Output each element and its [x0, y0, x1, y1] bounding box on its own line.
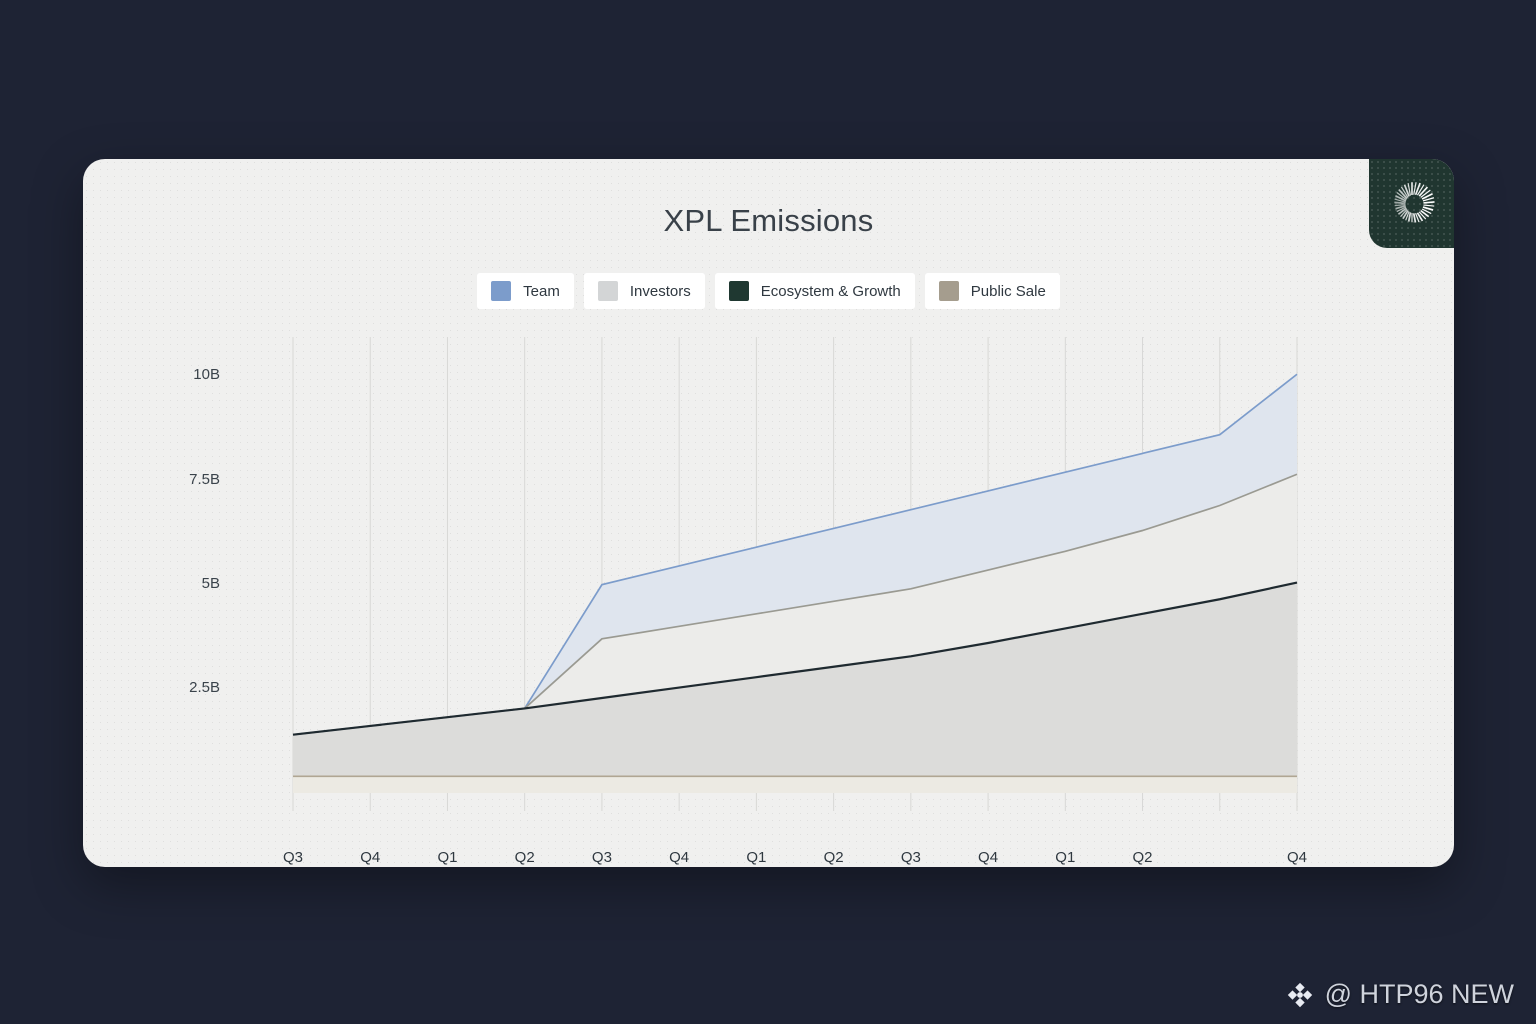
x-tick-label: Q3 — [263, 849, 323, 866]
x-tick-label: Q1 — [726, 849, 786, 866]
screenshot-root: XPL Emissions Team Investors Ecosystem &… — [0, 0, 1536, 1024]
watermark-text: @ HTP96 NEW — [1325, 979, 1514, 1010]
x-tick-label: Q3 — [572, 849, 632, 866]
y-tick-label: 5B — [130, 575, 220, 592]
chart-areas — [293, 374, 1297, 793]
x-tick-label: Q2 — [804, 849, 864, 866]
x-tick-label: Q3 — [881, 849, 941, 866]
y-tick-label: 10B — [130, 366, 220, 383]
binance-diamond-icon — [1285, 980, 1315, 1010]
y-tick-label: 7.5B — [130, 471, 220, 488]
watermark: @ HTP96 NEW — [1285, 979, 1514, 1010]
x-tick-label: Q4 — [340, 849, 400, 866]
y-tick-label: 2.5B — [130, 679, 220, 696]
chart-plot-area: 2.5B5B7.5B10B Q3Q4Q1Q2Q3Q4Q1Q2Q3Q4Q1Q2Q4… — [83, 159, 1454, 867]
x-tick-label: Q2 — [495, 849, 555, 866]
x-tick-label: Q4 — [1267, 849, 1327, 866]
x-tick-label: Q1 — [1035, 849, 1095, 866]
x-tick-label: Q1 — [417, 849, 477, 866]
x-tick-label: Q4 — [958, 849, 1018, 866]
emissions-area-chart — [83, 159, 1454, 867]
x-tick-label: Q4 — [649, 849, 709, 866]
x-tick-label: Q2 — [1113, 849, 1173, 866]
area-public-sale — [293, 776, 1297, 793]
chart-card: XPL Emissions Team Investors Ecosystem &… — [83, 159, 1454, 867]
